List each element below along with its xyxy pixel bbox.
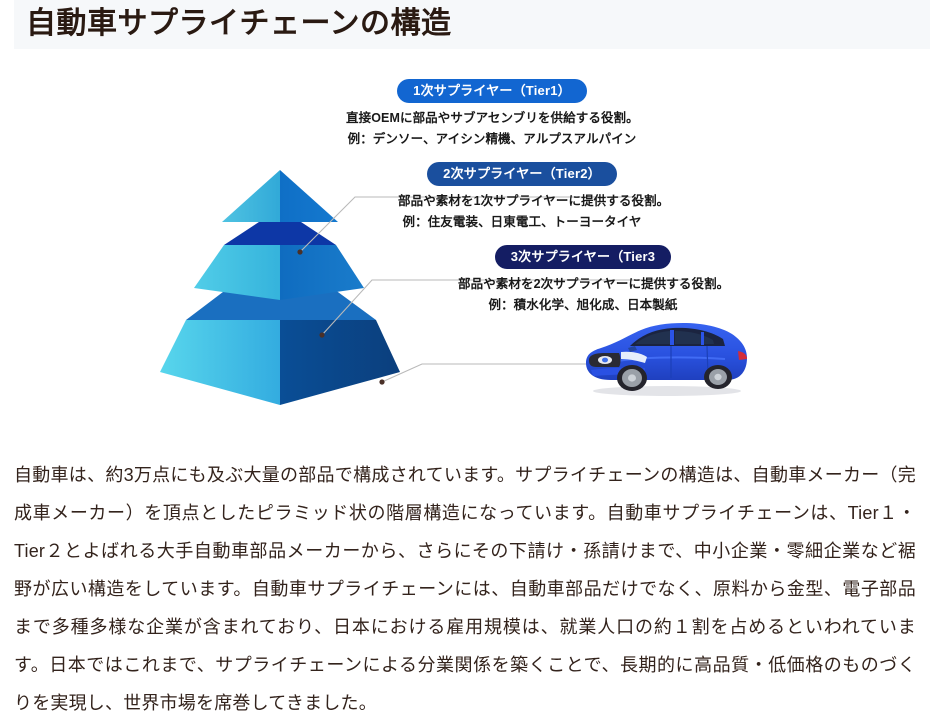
tier-callout-tier3: 3次サプライヤー（Tier3 部品や素材を2次サプライヤーに提供する役割。 例：… (458, 245, 708, 316)
tier1-desc-line-2: 例：デンソー、アイシン精機、アルプスアルパイン (346, 129, 638, 150)
tier2-desc-line-2: 例：住友電装、日東電工、トーヨータイヤ (398, 212, 646, 233)
tier3-pill-label[interactable]: 3次サプライヤー（Tier3 (495, 245, 671, 269)
body-paragraph: 自動車は、約3万点にも及ぶ大量の部品で構成されています。サプライチェーンの構造は… (14, 456, 916, 722)
tier-callout-tier1: 1次サプライヤー（Tier1） 直接OEMに部品やサブアセンブリを供給する役割。… (346, 79, 638, 150)
tier3-pill-wrap: 3次サプライヤー（Tier3 (458, 245, 708, 269)
supply-chain-figure: 1次サプライヤー（Tier1） 直接OEMに部品やサブアセンブリを供給する役割。… (0, 52, 930, 412)
car-rear-wheel (704, 365, 732, 389)
tier2-pill-label[interactable]: 2次サプライヤー（Tier2） (427, 162, 617, 186)
page-title: 自動車サプライチェーンの構造 (26, 4, 452, 44)
pyramid-graphic (150, 160, 410, 420)
tier2-description: 部品や素材を1次サプライヤーに提供する役割。 例：住友電装、日東電工、トーヨータ… (398, 191, 646, 233)
tier2-desc-line-1: 部品や素材を1次サプライヤーに提供する役割。 (398, 191, 646, 212)
tier2-pill-wrap: 2次サプライヤー（Tier2） (398, 162, 646, 186)
pyramid-level-1 (222, 170, 338, 222)
tier3-desc-line-1: 部品や素材を2次サプライヤーに提供する役割。 (458, 274, 708, 295)
car-front-wheel (617, 365, 647, 391)
tier1-pill-label[interactable]: 1次サプライヤー（Tier1） (397, 79, 587, 103)
tier1-description: 直接OEMに部品やサブアセンブリを供給する役割。 例：デンソー、アイシン精機、ア… (346, 108, 638, 150)
tier1-pill-wrap: 1次サプライヤー（Tier1） (346, 79, 638, 103)
tier-callout-tier2: 2次サプライヤー（Tier2） 部品や素材を1次サプライヤーに提供する役割。 例… (398, 162, 646, 233)
pyramid-level-2 (194, 220, 364, 300)
tier1-desc-line-1: 直接OEMに部品やサブアセンブリを供給する役割。 (346, 108, 638, 129)
car-illustration (575, 310, 755, 405)
